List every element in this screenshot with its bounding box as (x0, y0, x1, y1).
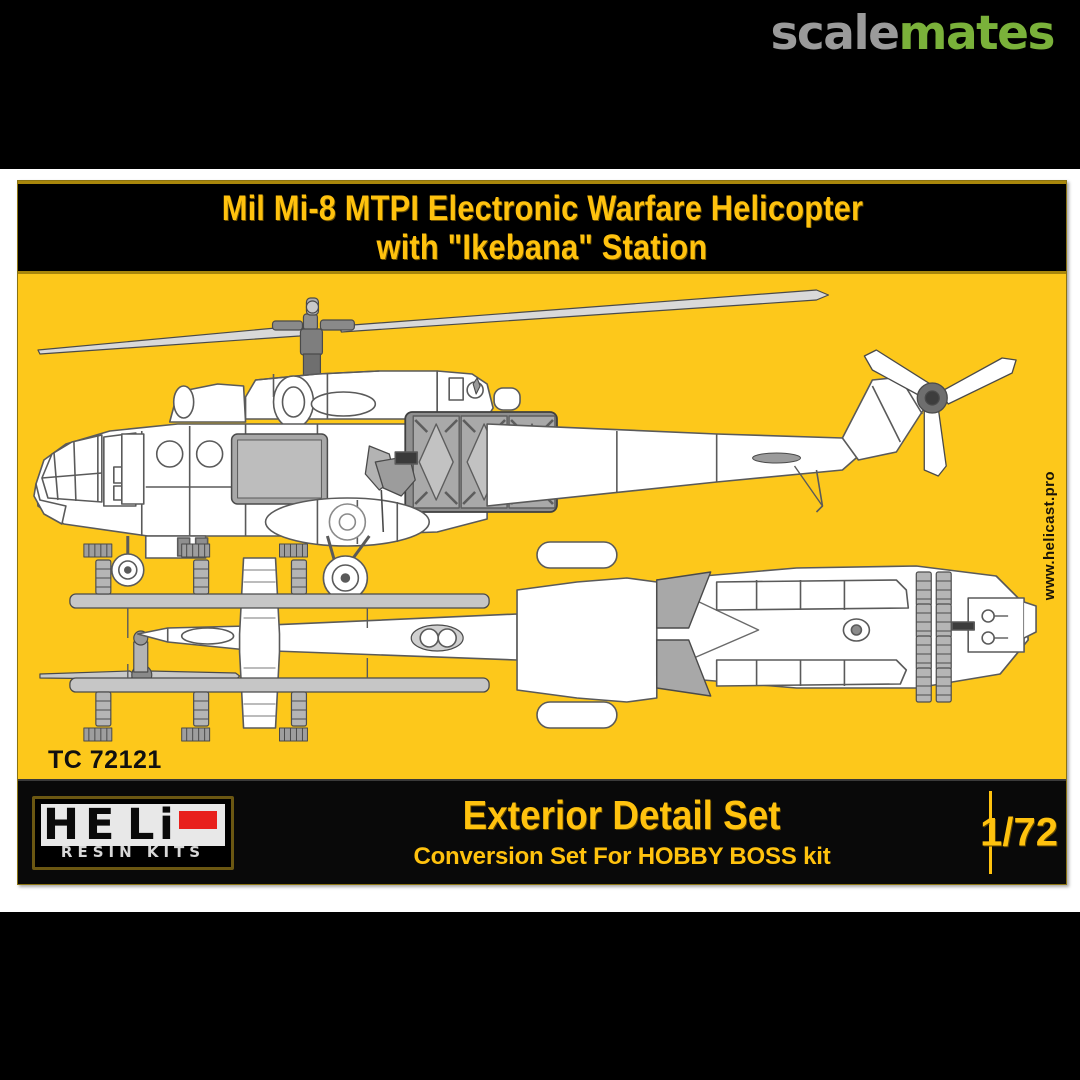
heli-logo-tagline: RESIN KITS (61, 843, 205, 861)
boxart-panel: Mil Mi-8 MTPI Electronic Warfare Helicop… (17, 180, 1067, 885)
scalemates-watermark[interactable]: scalemates (770, 6, 1054, 61)
helicopter-artwork (18, 274, 1066, 782)
boxart-title-line1: Mil Mi-8 MTPI Electronic Warfare Helicop… (221, 191, 862, 226)
heli-logo-tagline-wrap: RESIN KITS (41, 842, 225, 862)
ikebana-antenna-panel (232, 434, 328, 504)
letterbox-bottom (0, 912, 1080, 1080)
scale-value: 1/72 (980, 810, 1058, 855)
boxart-title-block: Mil Mi-8 MTPI Electronic Warfare Helicop… (18, 181, 1066, 274)
heli-letter-l: L (127, 804, 153, 846)
boxart-title-line2: with "Ikebana" Station (377, 230, 708, 265)
set-subtitle: Conversion Set For HOBBY BOSS kit (413, 843, 830, 871)
watermark-text-mates: mates (898, 6, 1054, 61)
heli-letter-i: i (159, 804, 173, 846)
set-title: Exterior Detail Set (463, 795, 781, 836)
product-code: TC 72121 (48, 746, 162, 775)
heli-brand-logo: H E L i RESIN KITS (32, 796, 234, 870)
screenshot-canvas: scalemates Mil Mi-8 MTPI Electronic Warf… (0, 0, 1080, 1080)
heli-letter-h: H (43, 804, 78, 846)
heli-logo-red-dot (179, 811, 217, 829)
set-description: Exterior Detail Set Conversion Set For H… (234, 795, 1066, 871)
heli-logo-wordmark: H E L i (41, 804, 225, 846)
watermark-text-scale: scale (770, 6, 898, 61)
heli-letter-e: E (85, 804, 113, 846)
manufacturer-website[interactable]: www.helicast.pro (1041, 471, 1058, 600)
helicopter-line-art (18, 274, 1066, 782)
boxart-footer: H E L i RESIN KITS Exterior Detail Set C… (18, 779, 1066, 884)
